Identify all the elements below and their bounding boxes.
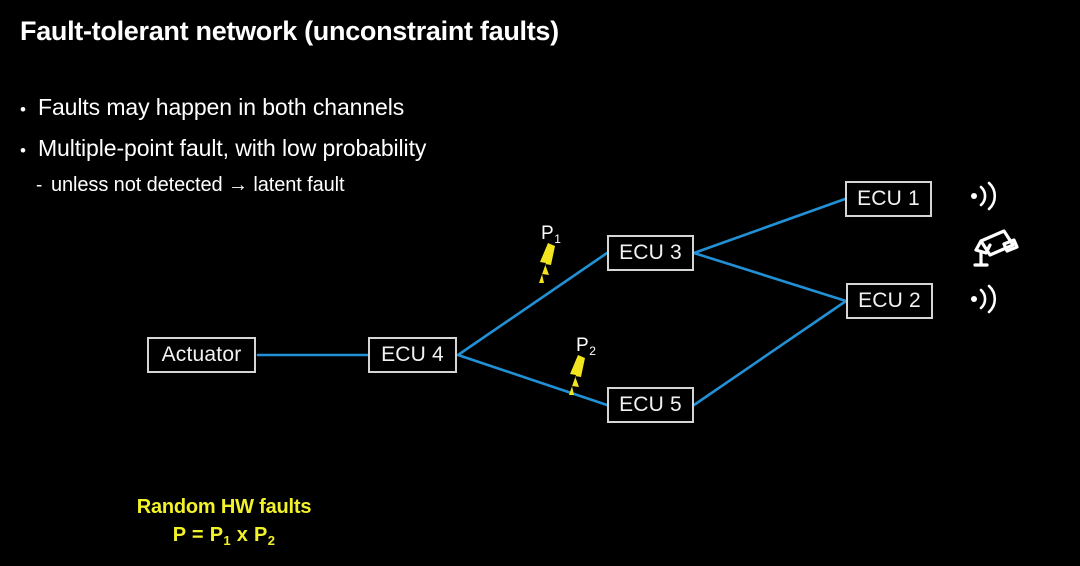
node-ecu5[interactable]: ECU 5 [607, 387, 694, 423]
wireless-signal-icon [968, 284, 1002, 314]
node-label: ECU 1 [857, 187, 920, 211]
node-ecu2[interactable]: ECU 2 [846, 283, 933, 319]
edge-ecu5-ecu2 [694, 301, 846, 405]
node-label: ECU 5 [619, 393, 682, 417]
formula-eq-prefix: P = P [173, 524, 224, 546]
formula-title: Random HW faults [104, 496, 344, 519]
security-camera-icon [968, 227, 1020, 271]
lightning-bolt-icon-p2 [567, 355, 593, 399]
wireless-signal-icon [968, 181, 1002, 211]
network-diagram: Actuator ECU 4 ECU 3 ECU 5 ECU 1 ECU 2 P… [0, 0, 1080, 566]
edge-ecu3-ecu2 [694, 253, 846, 301]
node-label: ECU 2 [858, 289, 921, 313]
fault-label-p1: P1 [541, 223, 560, 245]
node-ecu1[interactable]: ECU 1 [845, 181, 932, 217]
node-label: Actuator [162, 343, 242, 367]
formula-eq-sub2: 2 [268, 533, 276, 548]
formula-eq-sub1: 1 [223, 533, 231, 548]
node-label: ECU 4 [381, 343, 444, 367]
edge-ecu3-ecu1 [694, 199, 845, 253]
fault-label-p2: P2 [576, 335, 595, 357]
node-ecu4[interactable]: ECU 4 [368, 337, 457, 373]
slide-canvas: Fault-tolerant network (unconstraint fau… [0, 0, 1080, 566]
formula-equation: P = P1 x P2 [104, 524, 344, 547]
node-label: ECU 3 [619, 241, 682, 265]
node-actuator[interactable]: Actuator [147, 337, 256, 373]
fault-label-base: P [576, 335, 589, 356]
lightning-bolt-icon-p1 [537, 243, 563, 287]
node-ecu3[interactable]: ECU 3 [607, 235, 694, 271]
formula-block: Random HW faults P = P1 x P2 [104, 496, 344, 547]
fault-label-base: P [541, 223, 554, 244]
formula-eq-mid: x P [231, 524, 268, 546]
